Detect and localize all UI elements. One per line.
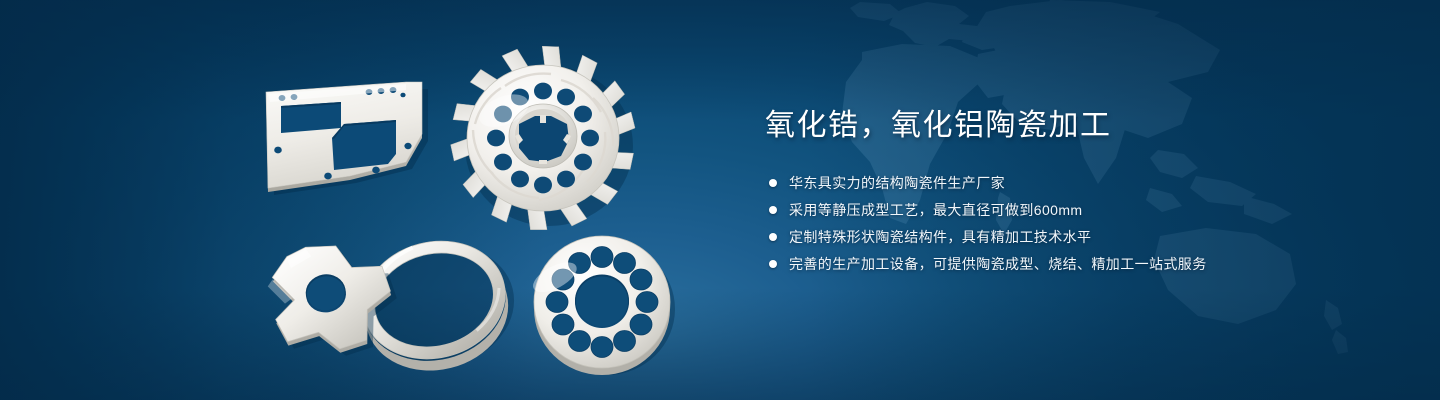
- feature-item-2-label: 采用等静压成型工艺，最大直径可做到600mm: [789, 200, 1082, 220]
- bullet-dot-icon: [769, 260, 777, 268]
- feature-list: 华东具实力的结构陶瓷件生产厂家 采用等静压成型工艺，最大直径可做到600mm 定…: [769, 172, 1385, 275]
- feature-item-3-label: 定制特殊形状陶瓷结构件，具有精加工技术水平: [789, 227, 1091, 247]
- ceramic-impeller-wheel: [448, 52, 638, 230]
- feature-item-4-label: 完善的生产加工设备，可提供陶瓷成型、烧结、精加工一站式服务: [789, 254, 1207, 274]
- ceramic-cross-vane-plate: [254, 228, 434, 368]
- feature-item-1: 华东具实力的结构陶瓷件生产厂家: [769, 172, 1385, 194]
- feature-item-1-label: 华东具实力的结构陶瓷件生产厂家: [789, 173, 1005, 193]
- feature-item-3: 定制特殊形状陶瓷结构件，具有精加工技术水平: [769, 226, 1385, 248]
- feature-item-4: 完善的生产加工设备，可提供陶瓷成型、烧结、精加工一站式服务: [769, 253, 1385, 275]
- feature-item-2: 采用等静压成型工艺，最大直径可做到600mm: [769, 199, 1385, 221]
- ceramic-perforated-disc: [524, 226, 684, 382]
- banner-copy: 氧化锆，氧化铝陶瓷加工 华东具实力的结构陶瓷件生产厂家 采用等静压成型工艺，最大…: [765, 108, 1385, 280]
- banner-headline: 氧化锆，氧化铝陶瓷加工: [765, 108, 1385, 144]
- bullet-dot-icon: [769, 233, 777, 241]
- ceramic-plate-with-cutouts: [248, 78, 458, 198]
- bullet-dot-icon: [769, 206, 777, 214]
- hero-banner: 氧化锆，氧化铝陶瓷加工 华东具实力的结构陶瓷件生产厂家 采用等静压成型工艺，最大…: [0, 0, 1440, 400]
- bullet-dot-icon: [769, 179, 777, 187]
